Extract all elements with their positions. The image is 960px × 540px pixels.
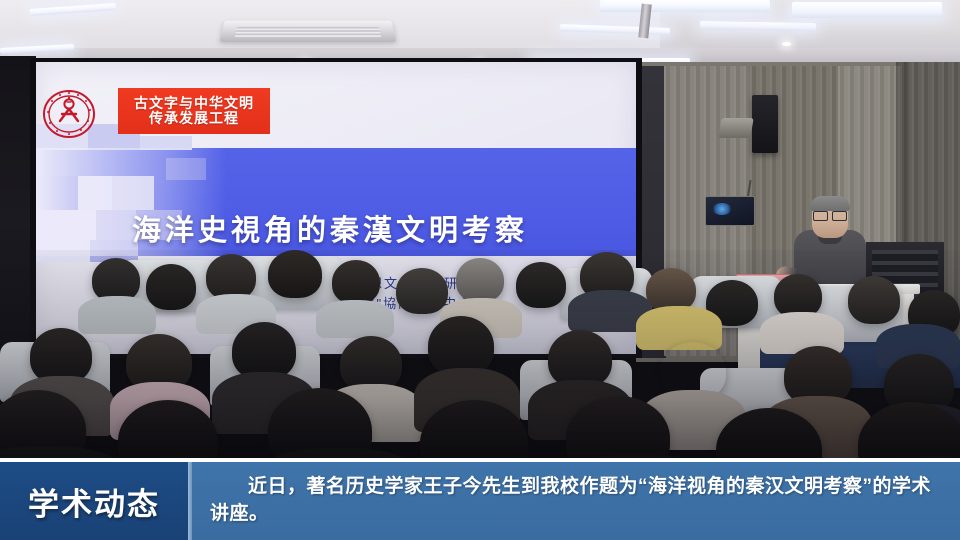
led-light-strip (792, 2, 942, 18)
wall-mounted-speaker (752, 95, 778, 153)
slide-title: 海洋史視角的秦漢文明考察 (132, 207, 528, 249)
audience-area (0, 250, 960, 460)
caption-text: 近日，著名历史学家王子今先生到我校作题为“海洋视角的秦汉文明考察”的学术讲座。 (210, 474, 944, 528)
presenter-hair (810, 196, 850, 211)
screenshot-stage: 古文字与中华文明 传承发展工程 海洋史視角的秦漢文明考察 西北大學中國思想文化意… (0, 0, 960, 540)
led-light-strip (600, 0, 770, 12)
downlight (782, 42, 791, 46)
caption-bar: 学术动态 近日，著名历史学家王子今先生到我校作题为“海洋视角的秦汉文明考察”的学… (0, 462, 960, 540)
red-project-banner: 古文字与中华文明 传承发展工程 (118, 88, 270, 134)
speaker-mount-bracket (718, 118, 754, 138)
caption-category-text: 学术动态 (28, 479, 160, 524)
ac-cassette-vent (220, 21, 397, 43)
caption-category-label: 学术动态 (0, 462, 188, 540)
caption-body: 近日，著名历史学家王子今先生到我校作题为“海洋视角的秦汉文明考察”的学术讲座。 (192, 462, 960, 540)
audience-shading-overlay (0, 250, 960, 460)
red-banner-line1: 古文字与中华文明 (134, 96, 254, 111)
wall-monitor (705, 196, 755, 226)
glasses-icon (813, 211, 847, 219)
oracle-bone-seal-logo (42, 88, 96, 140)
red-banner-line2: 传承发展工程 (149, 111, 239, 126)
